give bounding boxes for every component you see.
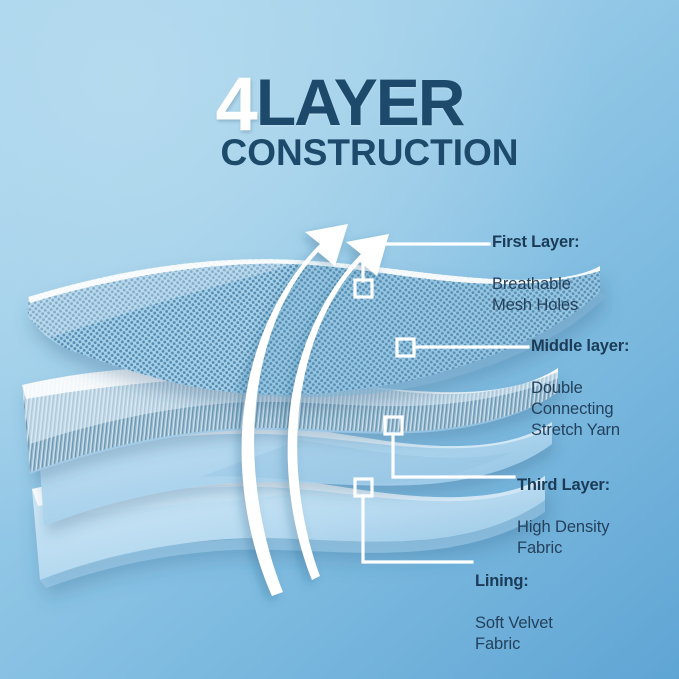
callout-body: Double Connecting Stretch Yarn <box>531 378 629 441</box>
title-word-layer: LAYER <box>256 65 464 139</box>
title-number: 4 <box>216 62 254 147</box>
callout-heading: Middle layer: <box>531 336 629 357</box>
title-line-1: 4LAYER <box>0 62 679 138</box>
callout-body: Breathable Mesh Holes <box>492 274 579 316</box>
callout-heading: Lining: <box>475 571 553 592</box>
title-subtitle: CONSTRUCTION <box>0 134 679 171</box>
page-title: 4LAYER CONSTRUCTION <box>0 62 679 171</box>
callout-heading: First Layer: <box>492 232 579 253</box>
callout-middle-layer: Middle layer: Double Connecting Stretch … <box>531 316 629 462</box>
callout-lining: Lining: Soft Velvet Fabric <box>475 551 553 676</box>
callout-heading: Third Layer: <box>517 475 610 496</box>
infographic-canvas: 4LAYER CONSTRUCTION First Layer: Breatha… <box>0 0 679 679</box>
callout-body: Soft Velvet Fabric <box>475 613 553 655</box>
